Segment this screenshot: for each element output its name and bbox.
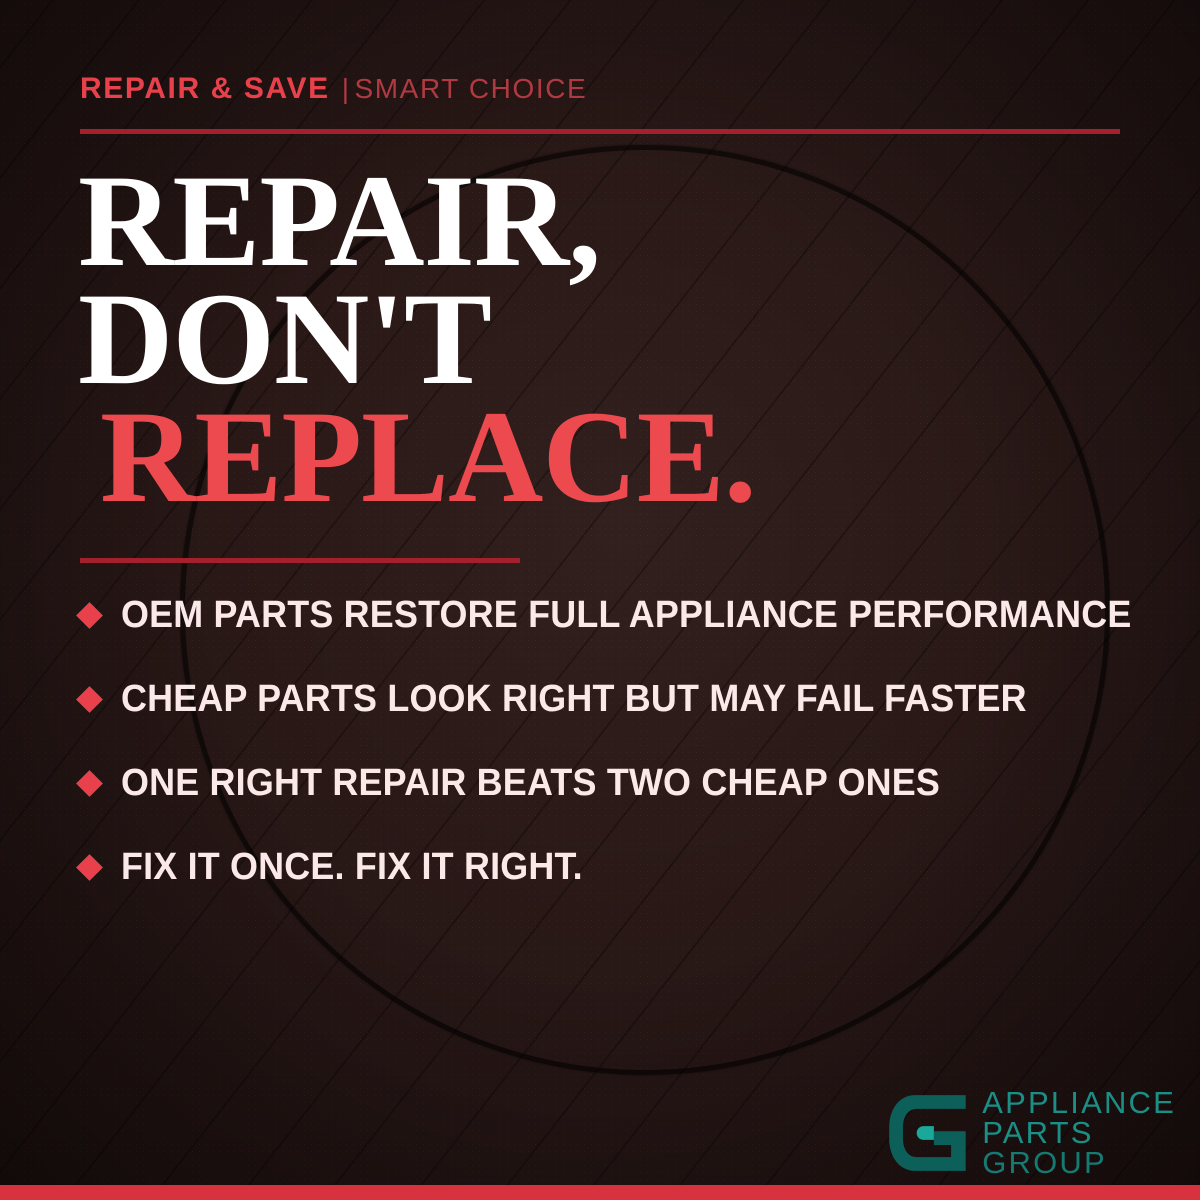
headline-divider-rule (80, 558, 520, 563)
logo-g-mark-icon (884, 1090, 970, 1176)
logo-line-1: APPLIANCE (982, 1088, 1176, 1118)
diamond-bullet-icon (76, 770, 103, 797)
list-item-label: ONE RIGHT REPAIR BEATS TWO CHEAP ONES (121, 762, 940, 805)
logo-line-3: GROUP (982, 1148, 1176, 1178)
header-divider-rule (80, 129, 1120, 134)
eyebrow: REPAIR & SAVE| SMART CHOICE (80, 74, 587, 104)
list-item-label: CHEAP PARTS LOOK RIGHT BUT MAY FAIL FAST… (121, 678, 1027, 721)
promo-poster: REPAIR & SAVE| SMART CHOICE REPAIR, DON'… (0, 0, 1200, 1200)
logo-line-2: PARTS (982, 1118, 1176, 1148)
list-item-label: FIX IT ONCE. FIX IT RIGHT. (121, 846, 583, 889)
headline-line-3: REPLACE. (100, 398, 756, 516)
list-item: OEM PARTS RESTORE FULL APPLIANCE PERFORM… (80, 588, 1140, 642)
eyebrow-subtitle: SMART CHOICE (354, 73, 587, 104)
diamond-bullet-icon (76, 686, 103, 713)
brand-logo: APPLIANCE PARTS GROUP (884, 1088, 1176, 1178)
bottom-accent-bar (0, 1185, 1200, 1200)
eyebrow-kicker: REPAIR & SAVE (80, 72, 330, 105)
diamond-bullet-icon (76, 854, 103, 881)
poster-content: REPAIR & SAVE| SMART CHOICE REPAIR, DON'… (0, 0, 1200, 1200)
logo-wordmark: APPLIANCE PARTS GROUP (982, 1088, 1176, 1178)
headline-line-2: DON'T (78, 280, 756, 398)
list-item: CHEAP PARTS LOOK RIGHT BUT MAY FAIL FAST… (80, 672, 1140, 726)
diamond-bullet-icon (76, 602, 103, 629)
page-title: REPAIR, DON'T REPLACE. (78, 162, 756, 516)
list-item-label: OEM PARTS RESTORE FULL APPLIANCE PERFORM… (121, 594, 1132, 637)
list-item: FIX IT ONCE. FIX IT RIGHT. (80, 840, 1140, 894)
headline-line-1: REPAIR, (78, 162, 756, 280)
benefit-list: OEM PARTS RESTORE FULL APPLIANCE PERFORM… (80, 588, 1140, 924)
list-item: ONE RIGHT REPAIR BEATS TWO CHEAP ONES (80, 756, 1140, 810)
eyebrow-separator: | (342, 73, 350, 104)
